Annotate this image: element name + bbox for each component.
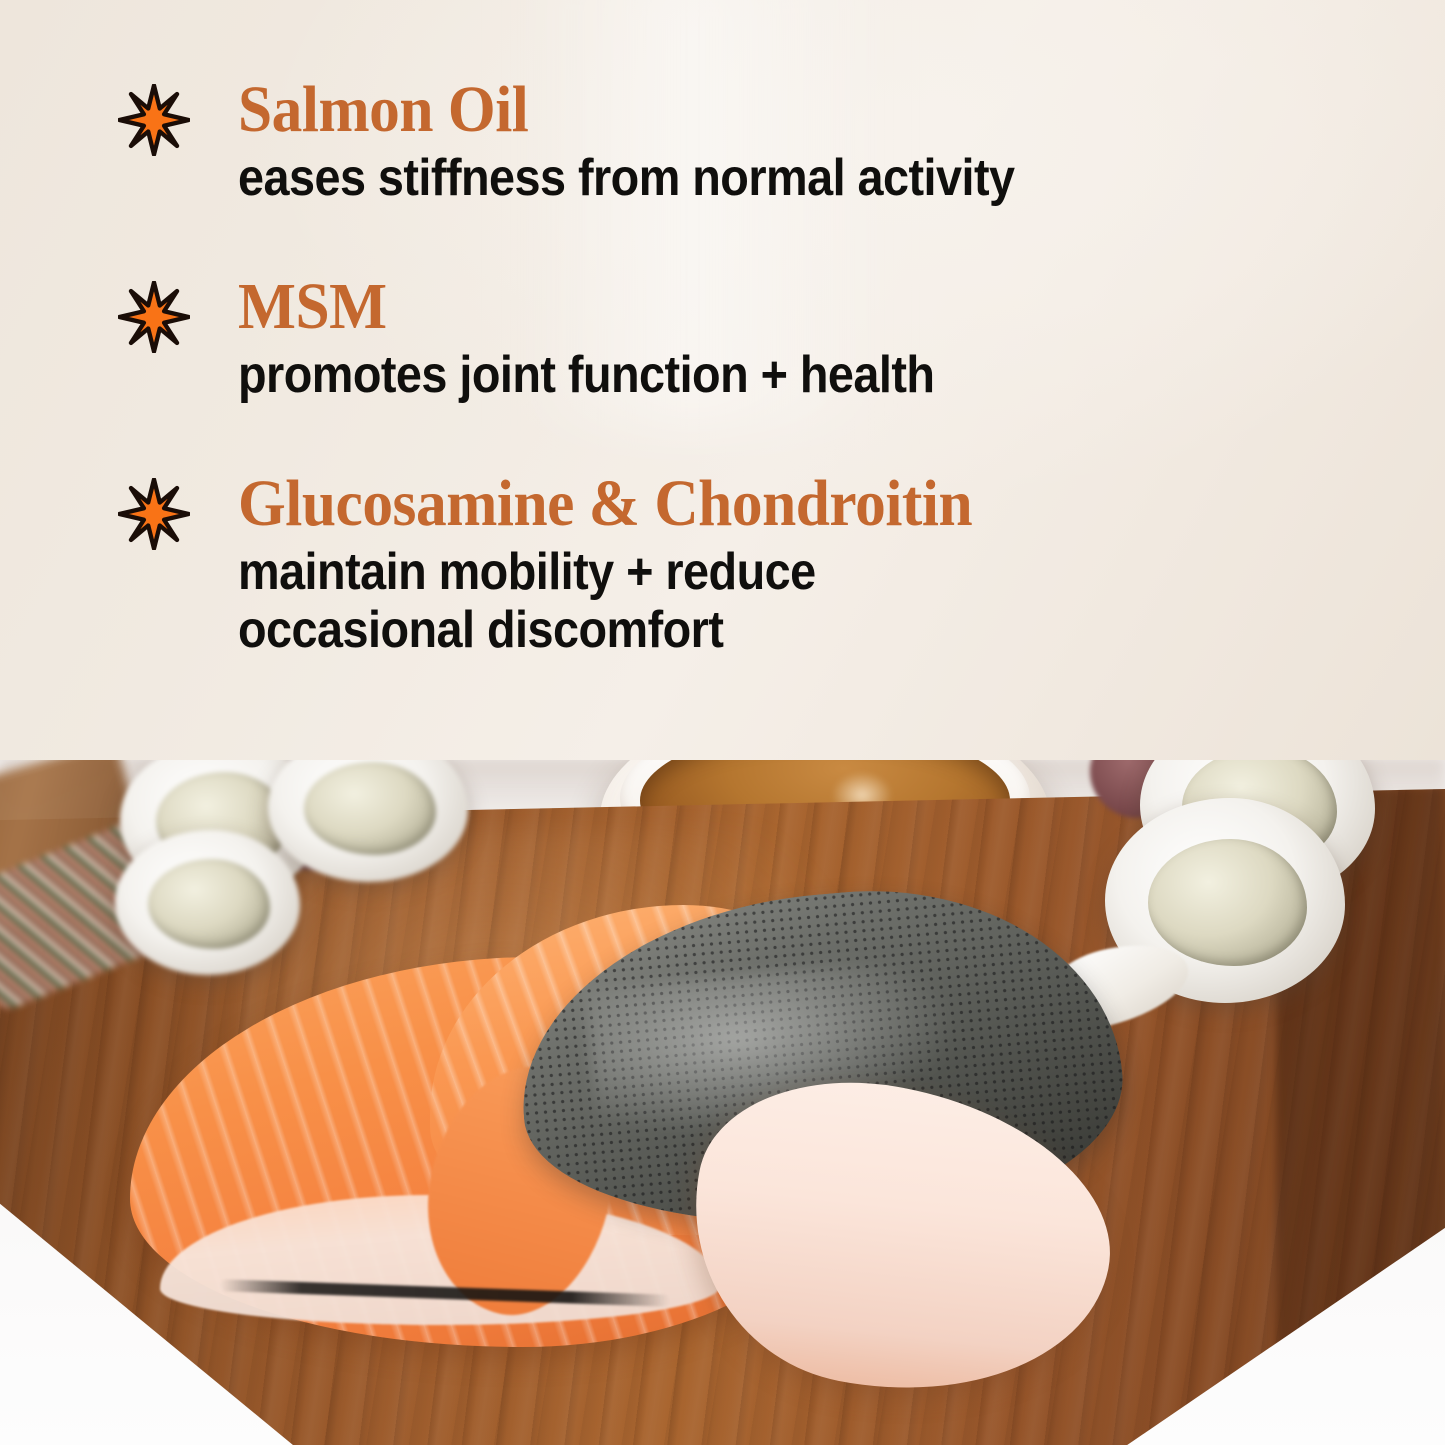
benefit-item-salmon-oil: Salmon Oil eases stiffness from normal a… [118, 78, 1418, 207]
benefit-description: eases stiffness from normal activity [238, 149, 1300, 207]
benefit-item-msm: MSM promotes joint function + health [118, 275, 1418, 404]
benefit-text-block: Salmon Oil eases stiffness from normal a… [238, 78, 1418, 207]
eight-point-star-icon [118, 478, 190, 550]
raw-salmon-fillet [130, 895, 1130, 1365]
benefit-title: Glucosamine & Chondroitin [238, 472, 1335, 537]
benefit-description: promotes joint function + health [238, 346, 1300, 404]
benefit-description: maintain mobility + reduce occasional di… [238, 543, 1012, 659]
benefit-title: Salmon Oil [238, 78, 1335, 143]
benefits-text-panel: Salmon Oil eases stiffness from normal a… [0, 0, 1445, 760]
oyster-meat [304, 762, 436, 855]
benefit-title: MSM [238, 275, 1335, 340]
benefit-item-glucosamine-chondroitin: Glucosamine & Chondroitin maintain mobil… [118, 472, 1418, 659]
eight-point-star-icon [118, 84, 190, 156]
product-ingredients-photo [0, 680, 1445, 1445]
eight-point-star-icon [118, 281, 190, 353]
infographic-page: Salmon Oil eases stiffness from normal a… [0, 0, 1445, 1445]
oyster-meat [1148, 839, 1306, 966]
benefit-text-block: MSM promotes joint function + health [238, 275, 1418, 404]
benefit-text-block: Glucosamine & Chondroitin maintain mobil… [238, 472, 1418, 659]
